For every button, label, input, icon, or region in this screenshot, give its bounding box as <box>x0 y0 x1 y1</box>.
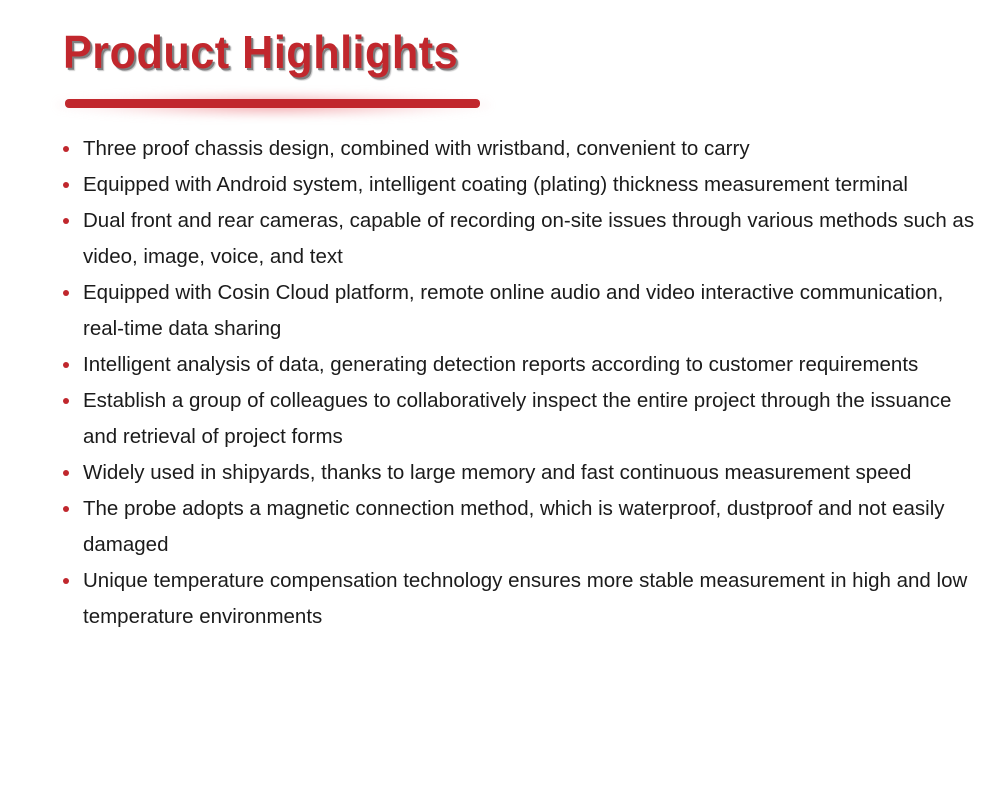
list-item-text: Intelligent analysis of data, generating… <box>83 347 977 383</box>
bullet-dot-icon <box>63 362 69 368</box>
highlights-list: Three proof chassis design, combined wit… <box>62 131 977 635</box>
bullet-dot-icon <box>63 218 69 224</box>
list-item: Establish a group of colleagues to colla… <box>62 383 977 455</box>
list-item-text: Widely used in shipyards, thanks to larg… <box>83 455 977 491</box>
list-item-text: Establish a group of colleagues to colla… <box>83 383 977 455</box>
page-title: Product Highlights <box>63 26 909 78</box>
title-underline <box>63 88 483 122</box>
bullet-dot-icon <box>63 398 69 404</box>
title-underline-bar <box>65 99 480 108</box>
bullet-dot-icon <box>63 578 69 584</box>
list-item: Three proof chassis design, combined wit… <box>62 131 977 167</box>
list-item: Intelligent analysis of data, generating… <box>62 347 977 383</box>
list-item-text: Unique temperature compensation technolo… <box>83 563 977 635</box>
bullet-dot-icon <box>63 506 69 512</box>
list-item: Widely used in shipyards, thanks to larg… <box>62 455 977 491</box>
list-item: Equipped with Cosin Cloud platform, remo… <box>62 275 977 347</box>
list-item: The probe adopts a magnetic connection m… <box>62 491 977 563</box>
list-item-text: Equipped with Android system, intelligen… <box>83 167 977 203</box>
bullet-dot-icon <box>63 470 69 476</box>
title-block: Product Highlights <box>63 26 963 78</box>
list-item: Dual front and rear cameras, capable of … <box>62 203 977 275</box>
bullet-dot-icon <box>63 290 69 296</box>
list-item-text: Equipped with Cosin Cloud platform, remo… <box>83 275 977 347</box>
list-item-text: The probe adopts a magnetic connection m… <box>83 491 977 563</box>
list-item: Equipped with Android system, intelligen… <box>62 167 977 203</box>
list-item-text: Dual front and rear cameras, capable of … <box>83 203 977 275</box>
slide-canvas: Product Highlights Three proof chassis d… <box>0 0 1000 800</box>
list-item: Unique temperature compensation technolo… <box>62 563 977 635</box>
bullet-dot-icon <box>63 182 69 188</box>
bullet-dot-icon <box>63 146 69 152</box>
list-item-text: Three proof chassis design, combined wit… <box>83 131 977 167</box>
